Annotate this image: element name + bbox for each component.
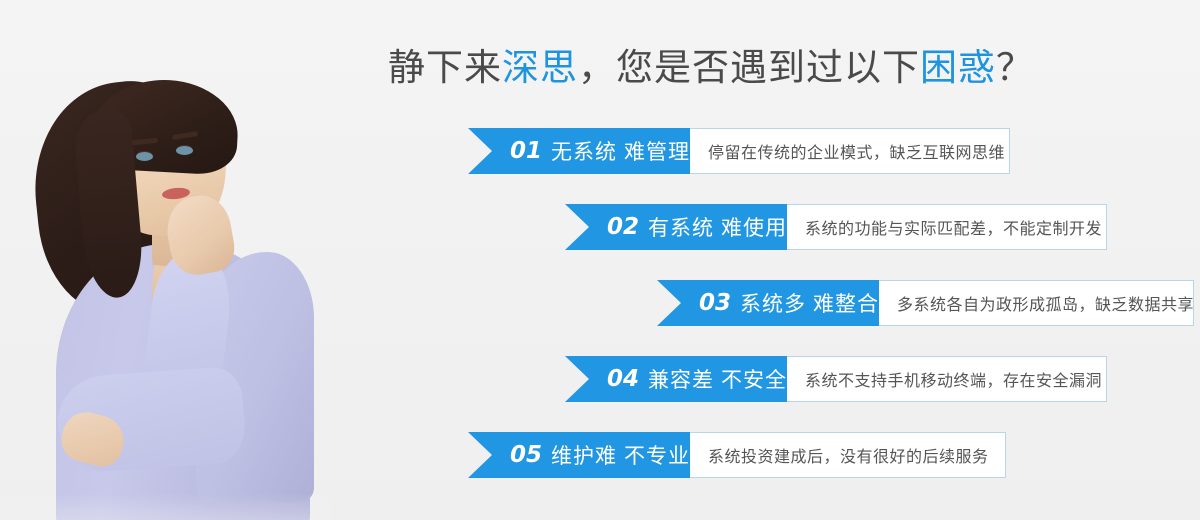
problem-number: 05: [510, 442, 542, 468]
problem-row[interactable]: 04兼容差不安全系统不支持手机移动终端，存在安全漏洞: [565, 356, 1107, 402]
problem-label: 维护难不专业: [551, 440, 690, 470]
problem-number: 02: [607, 214, 639, 240]
problem-label-part-b: 不安全: [721, 369, 787, 392]
right-eye-shape: [176, 146, 193, 155]
problem-number: 04: [607, 366, 639, 392]
headline-text: 静下来: [388, 47, 502, 88]
problem-label: 有系统难使用: [648, 212, 787, 242]
problem-number: 01: [510, 138, 542, 164]
headline-accent-text: 深思: [502, 47, 578, 88]
problem-row[interactable]: 03系统多难整合多系统各自为政形成孤岛，缺乏数据共享: [657, 280, 1194, 326]
problem-label-part-a: 有系统: [648, 217, 714, 240]
problem-label-part-a: 无系统: [551, 141, 617, 164]
problem-label-part-b: 难整合: [813, 293, 879, 316]
problem-description: 多系统各自为政形成孤岛，缺乏数据共享: [879, 280, 1194, 326]
problem-label-part-b: 不专业: [624, 445, 690, 468]
problem-description: 系统投资建成后，没有很好的后续服务: [690, 432, 1006, 478]
problem-tag[interactable]: 01无系统难管理: [468, 128, 690, 174]
problem-row[interactable]: 02有系统难使用系统的功能与实际匹配差，不能定制开发: [565, 204, 1107, 250]
problem-description: 停留在传统的企业模式，缺乏互联网思维: [690, 128, 1010, 174]
hero-person-image: [0, 0, 330, 520]
problem-label-part-a: 兼容差: [648, 369, 714, 392]
problem-number: 03: [699, 290, 731, 316]
headline-text: ？: [996, 47, 1034, 88]
problem-row[interactable]: 05维护难不专业系统投资建成后，没有很好的后续服务: [468, 432, 1006, 478]
problem-tag[interactable]: 02有系统难使用: [565, 204, 787, 250]
problem-label-part-a: 维护难: [551, 445, 617, 468]
promo-banner: 静下来深思，您是否遇到过以下困惑？ 01无系统难管理停留在传统的企业模式，缺乏互…: [0, 0, 1200, 520]
problem-tag[interactable]: 04兼容差不安全: [565, 356, 787, 402]
problem-label-part-a: 系统多: [740, 293, 806, 316]
problem-tag[interactable]: 05维护难不专业: [468, 432, 690, 478]
problem-label: 兼容差不安全: [648, 364, 787, 394]
problem-description: 系统的功能与实际匹配差，不能定制开发: [787, 204, 1107, 250]
page-title: 静下来深思，您是否遇到过以下困惑？: [388, 40, 1088, 96]
headline-text: ，您是否遇到过以下: [578, 47, 920, 88]
problem-label: 无系统难管理: [551, 136, 690, 166]
problem-tag[interactable]: 03系统多难整合: [657, 280, 879, 326]
problem-row[interactable]: 01无系统难管理停留在传统的企业模式，缺乏互联网思维: [468, 128, 1010, 174]
problem-label: 系统多难整合: [740, 288, 879, 318]
problem-description: 系统不支持手机移动终端，存在安全漏洞: [787, 356, 1107, 402]
bottom-fade-overlay: [0, 460, 330, 520]
problem-label-part-b: 难使用: [721, 217, 787, 240]
left-eye-shape: [136, 152, 153, 161]
headline-accent-text: 困惑: [920, 47, 996, 88]
problem-label-part-b: 难管理: [624, 141, 690, 164]
